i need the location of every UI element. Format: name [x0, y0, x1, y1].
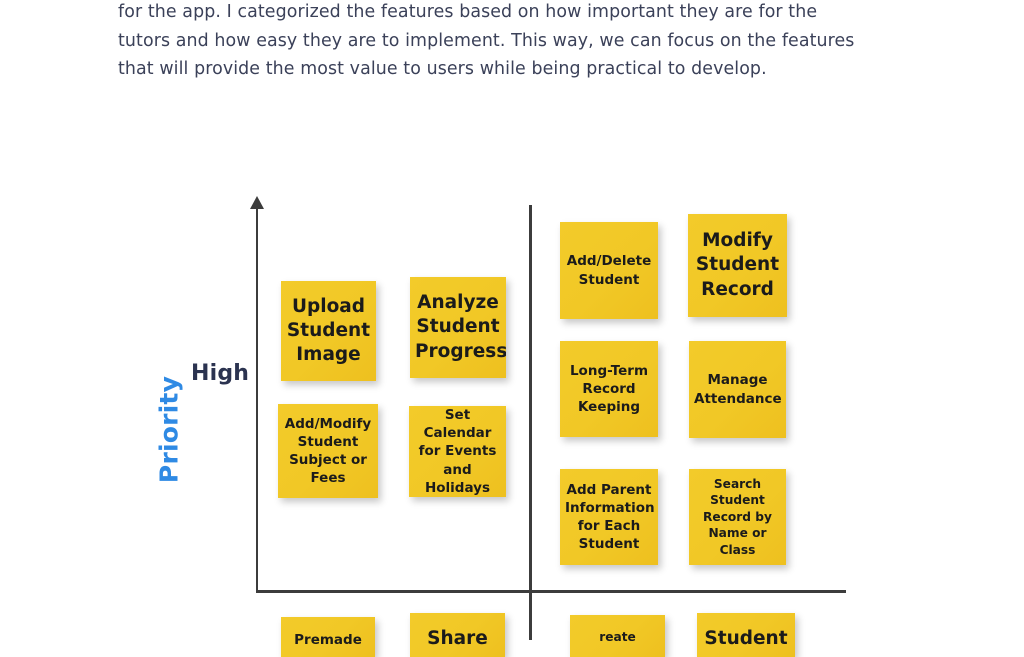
sticky-note-manage-attendance[interactable]: Manage Attendance	[689, 341, 786, 438]
sticky-note-label: Upload Student Image	[286, 295, 371, 367]
sticky-note-label: Add Parent Information for Each Student	[565, 481, 653, 553]
sticky-note-label: Modify Student Record	[693, 229, 782, 301]
y-axis-tick-high: High	[191, 361, 249, 386]
sticky-note-add-delete-student[interactable]: Add/Delete Student	[560, 222, 658, 319]
sticky-note-label: Add/Delete Student	[565, 252, 653, 288]
quadrant-divider-line	[529, 205, 532, 640]
sticky-note-analyze-student-progress[interactable]: Analyze Student Progress	[410, 277, 506, 378]
sticky-note-search-student-record-by-name-or-class[interactable]: Search Student Record by Name or Class	[689, 469, 786, 565]
sticky-note-label: Premade	[286, 631, 370, 649]
sticky-note-long-term-record-keeping[interactable]: Long-Term Record Keeping	[560, 341, 658, 437]
sticky-note-label: Add/Modify Student Subject or Fees	[283, 415, 373, 487]
sticky-note-upload-student-image[interactable]: Upload Student Image	[281, 281, 376, 381]
sticky-note-add-modify-student-subject-or-fees[interactable]: Add/Modify Student Subject or Fees	[278, 404, 378, 498]
sticky-note-add-parent-information-for-each-student[interactable]: Add Parent Information for Each Student	[560, 469, 658, 565]
sticky-note-create[interactable]: reate	[570, 615, 665, 657]
sticky-note-label: Student	[702, 627, 790, 651]
sticky-note-label: Search Student Record by Name or Class	[694, 476, 781, 558]
sticky-note-label: Share	[415, 627, 500, 651]
y-axis-line	[256, 206, 258, 592]
sticky-note-label: reate	[575, 629, 660, 645]
sticky-note-label: Set Calendar for Events and Holidays	[414, 406, 501, 496]
prioritization-matrix: High Priority Upload Student Image Analy…	[0, 0, 1024, 640]
x-axis-line	[256, 590, 846, 593]
sticky-note-premade[interactable]: Premade	[281, 617, 375, 657]
sticky-note-label: Long-Term Record Keeping	[565, 362, 653, 416]
y-axis-label-priority: Priority	[155, 365, 184, 495]
sticky-note-label: Analyze Student Progress	[415, 291, 501, 363]
sticky-note-share[interactable]: Share	[410, 613, 505, 657]
sticky-note-set-calendar-for-events-and-holidays[interactable]: Set Calendar for Events and Holidays	[409, 406, 506, 497]
sticky-note-student[interactable]: Student	[697, 613, 795, 657]
sticky-note-label: Manage Attendance	[694, 371, 781, 407]
sticky-note-modify-student-record[interactable]: Modify Student Record	[688, 214, 787, 317]
